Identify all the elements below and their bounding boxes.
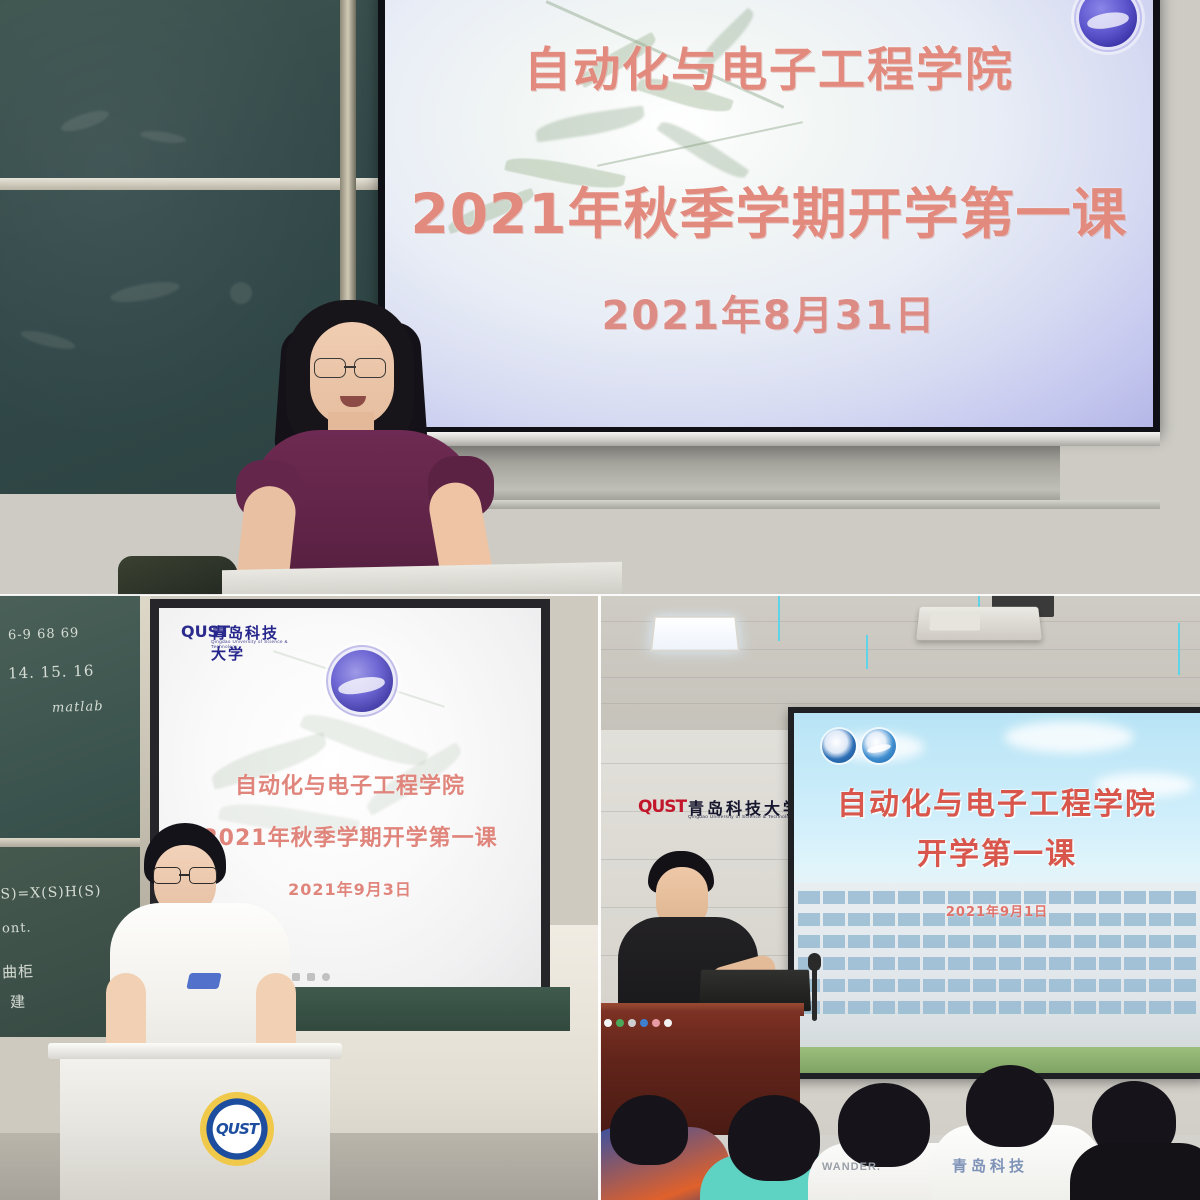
slide-surface: 自动化与电子工程学院 开学第一课 2021年9月1日 — [794, 713, 1200, 1073]
slide-title-line2: 开学第一课 — [794, 829, 1200, 873]
qust-seal-text: QUST — [216, 1120, 258, 1138]
slide-title-line1: 自动化与电子工程学院 — [385, 31, 1153, 100]
speaker-woman — [240, 300, 530, 595]
university-logo: QUST 青岛科技大学 Qingdao University of Scienc… — [181, 622, 289, 648]
school-badge-icon — [822, 729, 856, 763]
chalk-note-2: 14. 15. 16 — [8, 661, 95, 682]
glasses-icon — [312, 358, 390, 378]
panel-divider-vertical — [598, 595, 601, 1200]
audience-shirt-text-2: 青岛科技 — [952, 1155, 1102, 1176]
audience-shirt-text-1: WANDER. — [822, 1161, 952, 1174]
qust-seal-icon: QUST — [200, 1092, 274, 1166]
slide-title-line2: 2021年秋季学期开学第一课 — [385, 169, 1153, 249]
college-emblem-icon — [862, 729, 896, 763]
college-emblem-icon — [331, 650, 393, 712]
podium-control-buttons[interactable] — [604, 1019, 672, 1027]
ceiling-projector-icon — [916, 607, 1042, 640]
qust-name-en: Qingdao University of Science & Technolo… — [688, 814, 795, 819]
glasses-icon — [152, 867, 218, 884]
top-photo-panel: 自动化与电子工程学院 2021年秋季学期开学第一课 2021年8月31日 — [0, 0, 1200, 595]
lecture-podium: QUST — [60, 1050, 330, 1200]
projection-screen: 自动化与电子工程学院 开学第一课 2021年9月1日 — [788, 707, 1200, 1079]
blackboard-rail — [0, 178, 390, 190]
podium-top — [48, 1043, 342, 1059]
shirt-logo — [186, 973, 221, 989]
microphone-icon — [812, 965, 817, 1021]
bottom-left-photo-panel: 6-9 68 69 14. 15. 16 matlab (S)=X(S)H(S)… — [0, 595, 600, 1200]
qust-name-en: Qingdao University of Science & Technolo… — [211, 639, 289, 649]
ceiling-light-icon — [650, 616, 740, 651]
bottom-right-photo-panel: QUST 青岛科技大学 Qingdao University of Scienc… — [600, 595, 1200, 1200]
wall-sign: QUST 青岛科技大学 Qingdao University of Scienc… — [638, 793, 813, 827]
qust-mark: QUST — [638, 797, 686, 817]
bag-on-desk — [118, 556, 238, 595]
chalk-note-1: 6-9 68 69 — [8, 626, 80, 643]
slide-title-line1: 自动化与电子工程学院 — [159, 768, 541, 800]
slide-title-line1: 自动化与电子工程学院 — [794, 779, 1200, 823]
photo-collage: 自动化与电子工程学院 2021年秋季学期开学第一课 2021年8月31日 — [0, 0, 1200, 1200]
chalk-note-3: matlab — [52, 699, 104, 716]
slide-date: 2021年9月1日 — [794, 901, 1200, 920]
